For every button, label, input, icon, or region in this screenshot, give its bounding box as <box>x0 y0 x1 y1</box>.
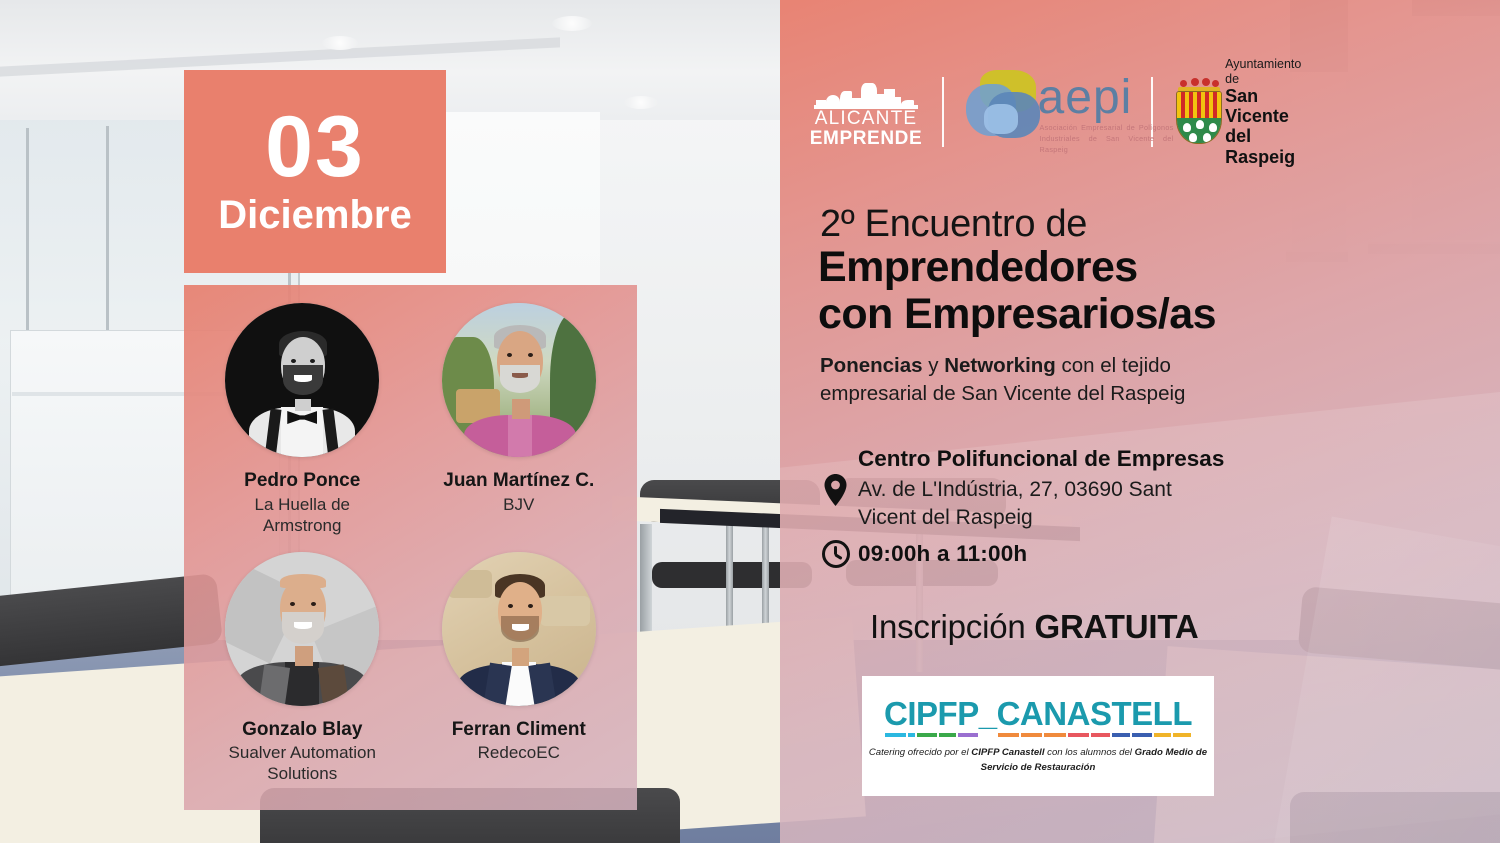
canastell-logo-letter: I <box>907 697 916 737</box>
canastell-logo-letter: A <box>1067 697 1090 737</box>
headline-line3: con Empresarios/as <box>818 290 1216 339</box>
ayuntamiento-line3: del Raspeig <box>1225 126 1310 166</box>
aepi-wordmark: aepi <box>1038 74 1133 122</box>
canastell-logo-underline <box>885 733 906 737</box>
venue-address: Av. de L'Indústria, 27, 03690 Sant Vicen… <box>858 476 1230 533</box>
canastell-logo-underscore: _ <box>979 697 997 737</box>
headline-line2: Emprendedores <box>818 243 1138 292</box>
speaker-card: Ferran Climent RedecoEC <box>411 552 628 801</box>
canastell-logo-letter: A <box>1020 697 1043 737</box>
logo-alicante-line2: EMPRENDE <box>810 129 922 149</box>
ceiling-lamp <box>624 96 658 109</box>
speaker-org: La Huella de Armstrong <box>217 495 387 536</box>
shield-body <box>1176 91 1222 144</box>
speaker-name: Pedro Ponce <box>244 470 360 492</box>
speaker-card: Juan Martínez C. BJV <box>411 303 628 552</box>
coat-of-arms-icon <box>1173 78 1216 146</box>
canastell-logo-underline <box>1112 733 1130 737</box>
speaker-photo-gonzalo-blay <box>225 552 379 706</box>
headline-line1: 2º Encuentro de <box>820 203 1087 246</box>
alicante-skyline-icon <box>814 75 918 109</box>
canastell-logo-letter: C <box>884 697 907 737</box>
aepi-tagline: Asociación Empresarial de Polígonos Indu… <box>1040 123 1174 155</box>
canastell-logo-underline <box>1132 733 1152 737</box>
logo-aepi: aepi Asociación Empresarial de Polígonos… <box>964 68 1132 156</box>
caption-bold1: CIPFP Canastell <box>971 747 1044 758</box>
clock-icon <box>822 540 850 568</box>
date-day: 03 <box>265 107 365 189</box>
shield-stripes <box>1177 92 1221 118</box>
canastell-logo-letter: P <box>957 697 979 737</box>
canastell-logo-letter: T <box>1111 697 1131 737</box>
cipfp-canastell-logo: CIPFP_CANASTELL <box>884 697 1192 737</box>
ceiling-lamp <box>322 36 358 50</box>
speaker-name: Ferran Climent <box>452 719 586 741</box>
ceiling-lamp <box>552 16 592 31</box>
logo-row: ALICANTE EMPRENDE aepi Asociación Empres… <box>810 64 1310 160</box>
speaker-card: Pedro Ponce La Huella de Armstrong <box>194 303 411 552</box>
subtitle: Ponencias y Networking con el tejido emp… <box>820 352 1240 409</box>
location-pin-icon <box>823 474 848 506</box>
subtitle-bold-networking: Networking <box>944 354 1056 377</box>
venue-name: Centro Polifuncional de Empresas <box>858 446 1224 472</box>
canastell-logo-underline <box>1021 733 1042 737</box>
canastell-logo-letter: N <box>1043 697 1066 737</box>
logo-ayuntamiento: Ayuntamiento de San Vicente del Raspeig <box>1173 57 1310 166</box>
canastell-logo-letter: C <box>997 697 1020 737</box>
canastell-logo-underline <box>1154 733 1172 737</box>
canastell-logo-letter: L <box>1153 697 1173 737</box>
registration-line: Inscripción GRATUITA <box>870 608 1199 646</box>
speakers-panel: Pedro Ponce La Huella de Armstrong Juan … <box>184 285 637 810</box>
ayuntamiento-line2: San Vicente <box>1225 86 1310 126</box>
canastell-logo-letter: S <box>1090 697 1112 737</box>
caption-part2: con los alumnos del <box>1044 747 1134 758</box>
speaker-org: Sualver Automation Solutions <box>217 743 387 784</box>
event-poster: 03 Diciembre Pedro Ponce La Huel <box>0 0 1500 843</box>
aepi-blob-lightblue <box>984 104 1018 134</box>
registration-highlight: GRATUITA <box>1035 608 1199 645</box>
ayuntamiento-line1: Ayuntamiento de <box>1225 57 1310 86</box>
canastell-logo-letter: P <box>916 697 938 737</box>
logo-alicante-emprende: ALICANTE EMPRENDE <box>810 75 922 148</box>
registration-prefix: Inscripción <box>870 608 1035 645</box>
subtitle-conjunction: y <box>923 354 945 377</box>
canastell-logo-underline <box>1091 733 1111 737</box>
speaker-org: BJV <box>503 495 534 516</box>
logo-alicante-line1: ALICANTE <box>815 109 918 128</box>
event-time: 09:00h a 11:00h <box>858 541 1027 567</box>
date-badge: 03 Diciembre <box>184 70 446 273</box>
canastell-logo-underline <box>1068 733 1089 737</box>
canastell-logo-underline <box>908 733 915 737</box>
canastell-logo-underline <box>1044 733 1065 737</box>
sponsor-card-cipfp-canastell: CIPFP_CANASTELL Catering ofrecido por el… <box>862 676 1214 796</box>
subtitle-bold-ponencias: Ponencias <box>820 354 923 377</box>
speaker-photo-pedro-ponce <box>225 303 379 457</box>
speaker-photo-juan-martinez <box>442 303 596 457</box>
canastell-logo-letter: L <box>1172 697 1192 737</box>
sponsor-caption: Catering ofrecido por el CIPFP Canastell… <box>862 746 1214 775</box>
speaker-org: RedecoEC <box>478 743 560 764</box>
canastell-logo-underline <box>917 733 937 737</box>
logo-divider <box>942 77 944 147</box>
canastell-logo-underline <box>958 733 978 737</box>
canastell-logo-letter: F <box>938 697 958 737</box>
canastell-logo-underline <box>998 733 1019 737</box>
caption-part1: Catering ofrecido por el <box>869 747 971 758</box>
canastell-logo-letter: E <box>1131 697 1153 737</box>
speaker-photo-ferran-climent <box>442 552 596 706</box>
speaker-card: Gonzalo Blay Sualver Automation Solution… <box>194 552 411 801</box>
canastell-logo-underline <box>939 733 957 737</box>
speaker-name: Gonzalo Blay <box>242 719 362 741</box>
date-month: Diciembre <box>218 194 411 236</box>
canastell-logo-underline <box>1173 733 1191 737</box>
speaker-name: Juan Martínez C. <box>443 470 594 492</box>
